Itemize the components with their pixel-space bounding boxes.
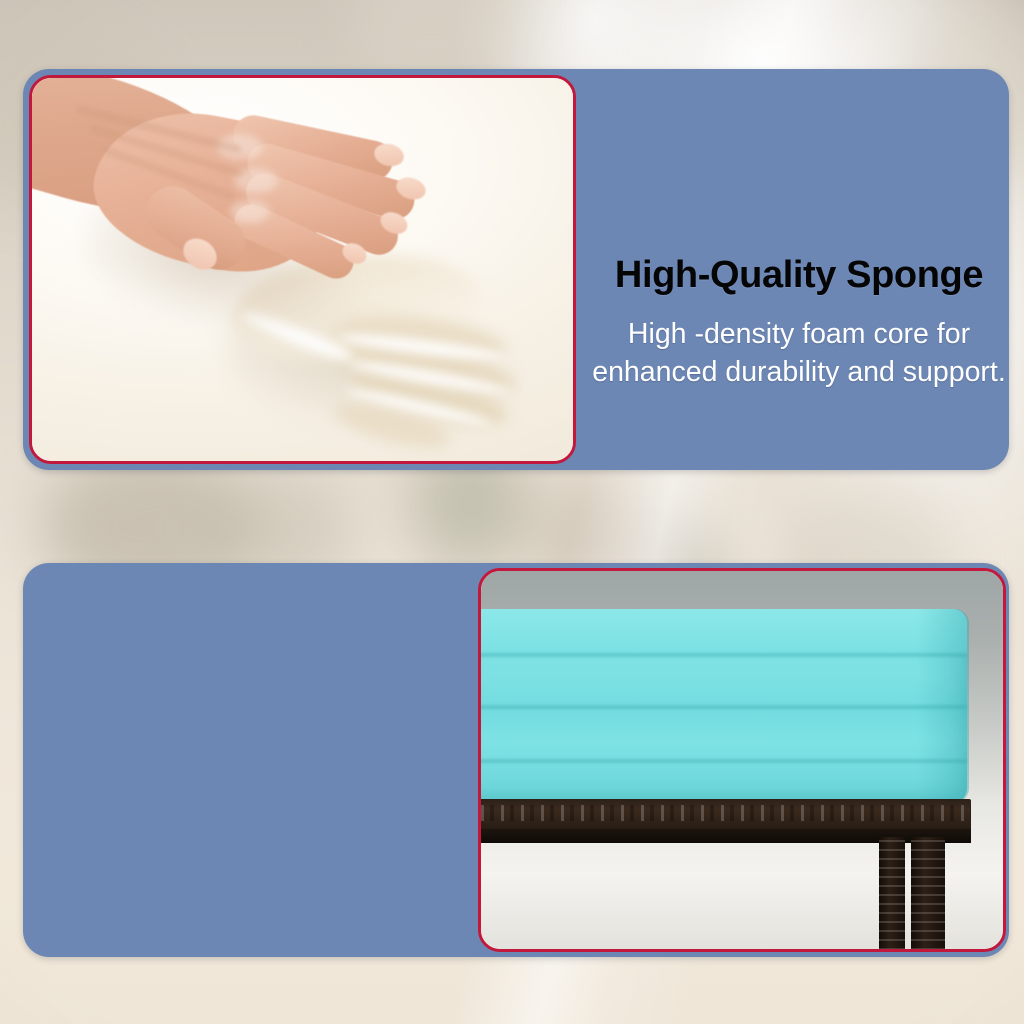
infographic-canvas: High-Quality Sponge High -density foam c… [0,0,1024,1024]
sponge-text-block: High-Quality Sponge High -density foam c… [579,255,1009,392]
hand-graphic [29,75,442,332]
sponge-body-text: High -density foam core for enhanced dur… [579,316,1009,392]
wicker-bench-leg-left [879,837,905,952]
wicker-bench-leg-right [911,837,945,952]
hand-pressing-memory-foam-photo [29,75,576,464]
teal-cushion-on-wicker-bench-photo [478,568,1006,952]
teal-cushion [478,609,967,804]
sponge-headline: High-Quality Sponge [579,255,1009,296]
memory-foam-surface [32,78,573,461]
feature-card-washable: Removble and Washable Regular cleaning o… [23,563,1009,957]
feature-card-sponge: High-Quality Sponge High -density foam c… [23,69,1009,470]
wicker-bench-seat [478,799,971,833]
bench-scene-backdrop [481,571,1003,949]
